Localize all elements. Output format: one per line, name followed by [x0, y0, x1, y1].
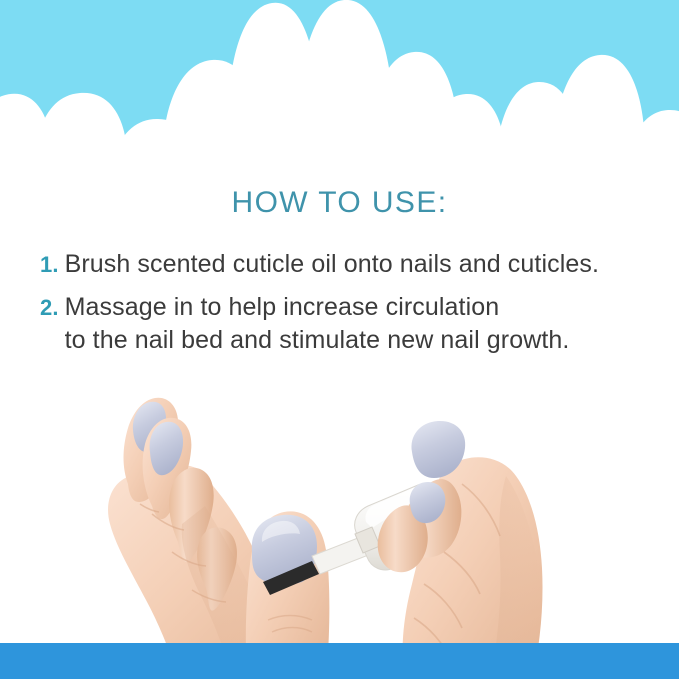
step-number: 2. [40, 291, 59, 324]
photo-backdrop [0, 356, 679, 679]
step-number: 1. [40, 248, 59, 281]
cloud-band-graphic [0, 0, 679, 190]
step-text-line: to the nail bed and stimulate new nail g… [65, 326, 570, 354]
hands-illustration [0, 356, 679, 679]
sky-cloud-banner [0, 0, 679, 190]
page-title: HOW TO USE: [0, 186, 679, 220]
steps-list: 1. Brush scented cuticle oil onto nails … [0, 248, 679, 357]
step-text-line: Massage in to help increase circulation [65, 293, 500, 321]
blue-footer-bar [0, 643, 679, 679]
list-item: 1. Brush scented cuticle oil onto nails … [0, 248, 679, 281]
step-text: Brush scented cuticle oil onto nails and… [65, 248, 655, 281]
product-usage-photo [0, 356, 679, 679]
list-item: 2. Massage in to help increase circulati… [0, 291, 679, 357]
poster-canvas: HOW TO USE: 1. Brush scented cuticle oil… [0, 0, 679, 679]
instructions-block: HOW TO USE: 1. Brush scented cuticle oil… [0, 186, 679, 357]
step-text: Massage in to help increase circulation … [65, 291, 655, 357]
